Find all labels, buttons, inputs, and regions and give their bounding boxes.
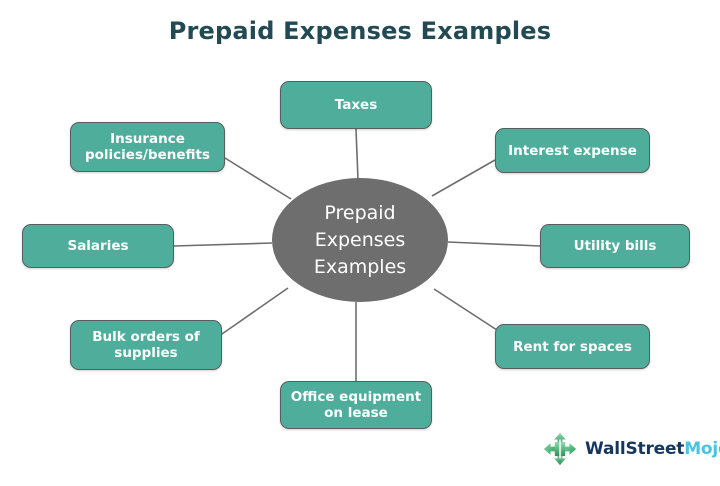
edge-interest-expense: [432, 160, 495, 196]
node-utility-bills[interactable]: Utility bills: [540, 224, 690, 268]
page-title: Prepaid Expenses Examples: [0, 17, 720, 45]
diagram-canvas: Prepaid Expenses Examples Prepaid Expens…: [0, 0, 720, 486]
node-label-office-equipment-on-lease: Office equipment on lease: [291, 389, 421, 421]
node-taxes[interactable]: Taxes: [280, 81, 432, 129]
node-label-bulk-orders-of-supplies: Bulk orders of supplies: [92, 329, 200, 361]
edge-bulk-orders: [222, 288, 288, 334]
node-bulk-orders-of-supplies[interactable]: Bulk orders of supplies: [70, 320, 222, 370]
node-interest-expense[interactable]: Interest expense: [495, 128, 650, 173]
logo-text-accent: Mojo: [684, 439, 720, 459]
center-hub-label: Prepaid Expenses Examples: [314, 200, 406, 281]
center-hub-node: Prepaid Expenses Examples: [272, 178, 448, 302]
node-office-equipment-on-lease[interactable]: Office equipment on lease: [280, 381, 432, 429]
wallstreetmojo-arrows-icon: [541, 430, 579, 468]
node-label-salaries: Salaries: [67, 238, 128, 254]
node-label-rent-for-spaces: Rent for spaces: [513, 339, 632, 355]
edge-salaries: [174, 243, 272, 246]
node-label-taxes: Taxes: [335, 97, 377, 113]
node-label-utility-bills: Utility bills: [574, 238, 657, 254]
logo-text-primary: WallStreet: [585, 439, 684, 459]
node-rent-for-spaces[interactable]: Rent for spaces: [495, 324, 650, 369]
node-label-insurance-policies-benefits: Insurance policies/benefits: [85, 131, 210, 163]
edge-utility-bills: [448, 242, 540, 246]
wallstreetmojo-logo: WallStreetMojo: [541, 428, 701, 470]
node-label-interest-expense: Interest expense: [508, 143, 637, 159]
logo-wordmark: WallStreetMojo: [585, 439, 720, 459]
edge-taxes: [356, 129, 358, 180]
edge-rent-for-spaces: [434, 289, 500, 332]
node-insurance-policies-benefits[interactable]: Insurance policies/benefits: [70, 122, 225, 172]
node-salaries[interactable]: Salaries: [22, 224, 174, 268]
edge-insurance: [225, 158, 291, 199]
